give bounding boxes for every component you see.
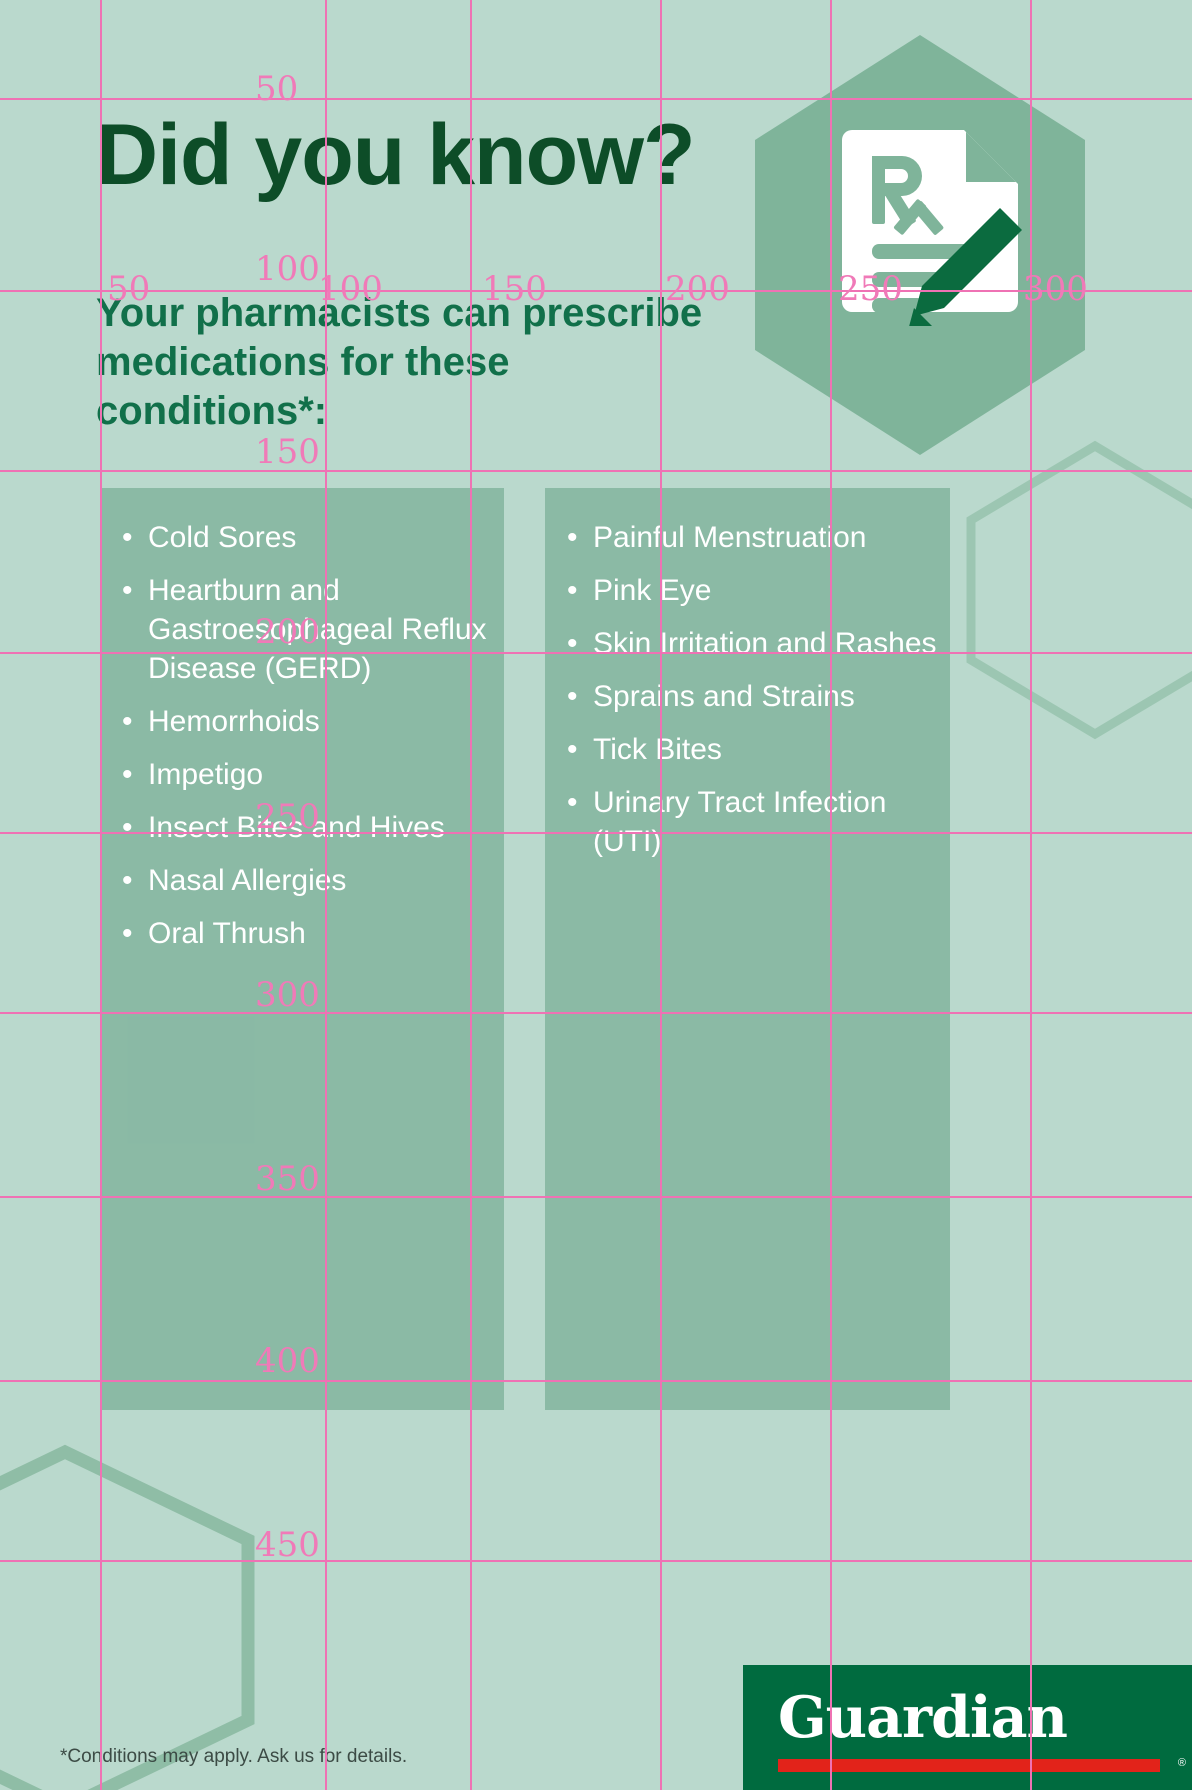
rx-document-icon	[836, 116, 1036, 326]
footnote-text: *Conditions may apply. Ask us for detail…	[60, 1746, 407, 1768]
guardian-logo: Guardian ®	[743, 1665, 1192, 1790]
condition-list-item: Urinary Tract Infection (UTI)	[565, 783, 940, 861]
condition-list-item: Impetigo	[120, 755, 494, 794]
condition-list-item: Cold Sores	[120, 518, 494, 557]
subheadline: Your pharmacists can prescribe medicatio…	[96, 289, 716, 435]
condition-list-item: Sprains and Strains	[565, 677, 940, 716]
conditions-list-left: Cold SoresHeartburn and Gastroesophageal…	[100, 488, 504, 953]
conditions-panel-right: Painful MenstruationPink EyeSkin Irritat…	[545, 488, 950, 1410]
condition-list-item: Skin Irritation and Rashes	[565, 624, 940, 663]
poster-canvas: Did you know? Your pharmacists can presc…	[0, 0, 1192, 1790]
conditions-panel-left: Cold SoresHeartburn and Gastroesophageal…	[100, 488, 504, 1410]
condition-list-item: Insect Bites and Hives	[120, 808, 494, 847]
condition-list-item: Heartburn and Gastroesophageal Reflux Di…	[120, 571, 494, 688]
condition-list-item: Painful Menstruation	[565, 518, 940, 557]
condition-list-item: Pink Eye	[565, 571, 940, 610]
condition-list-item: Nasal Allergies	[120, 861, 494, 900]
registered-trademark-symbol: ®	[1178, 1757, 1186, 1769]
page-title: Did you know?	[96, 112, 695, 198]
condition-list-item: Hemorrhoids	[120, 702, 494, 741]
condition-list-item: Tick Bites	[565, 730, 940, 769]
conditions-list-right: Painful MenstruationPink EyeSkin Irritat…	[545, 488, 950, 861]
condition-list-item: Oral Thrush	[120, 914, 494, 953]
guardian-wordmark: Guardian	[778, 1689, 1067, 1746]
guardian-red-rule	[778, 1759, 1160, 1772]
